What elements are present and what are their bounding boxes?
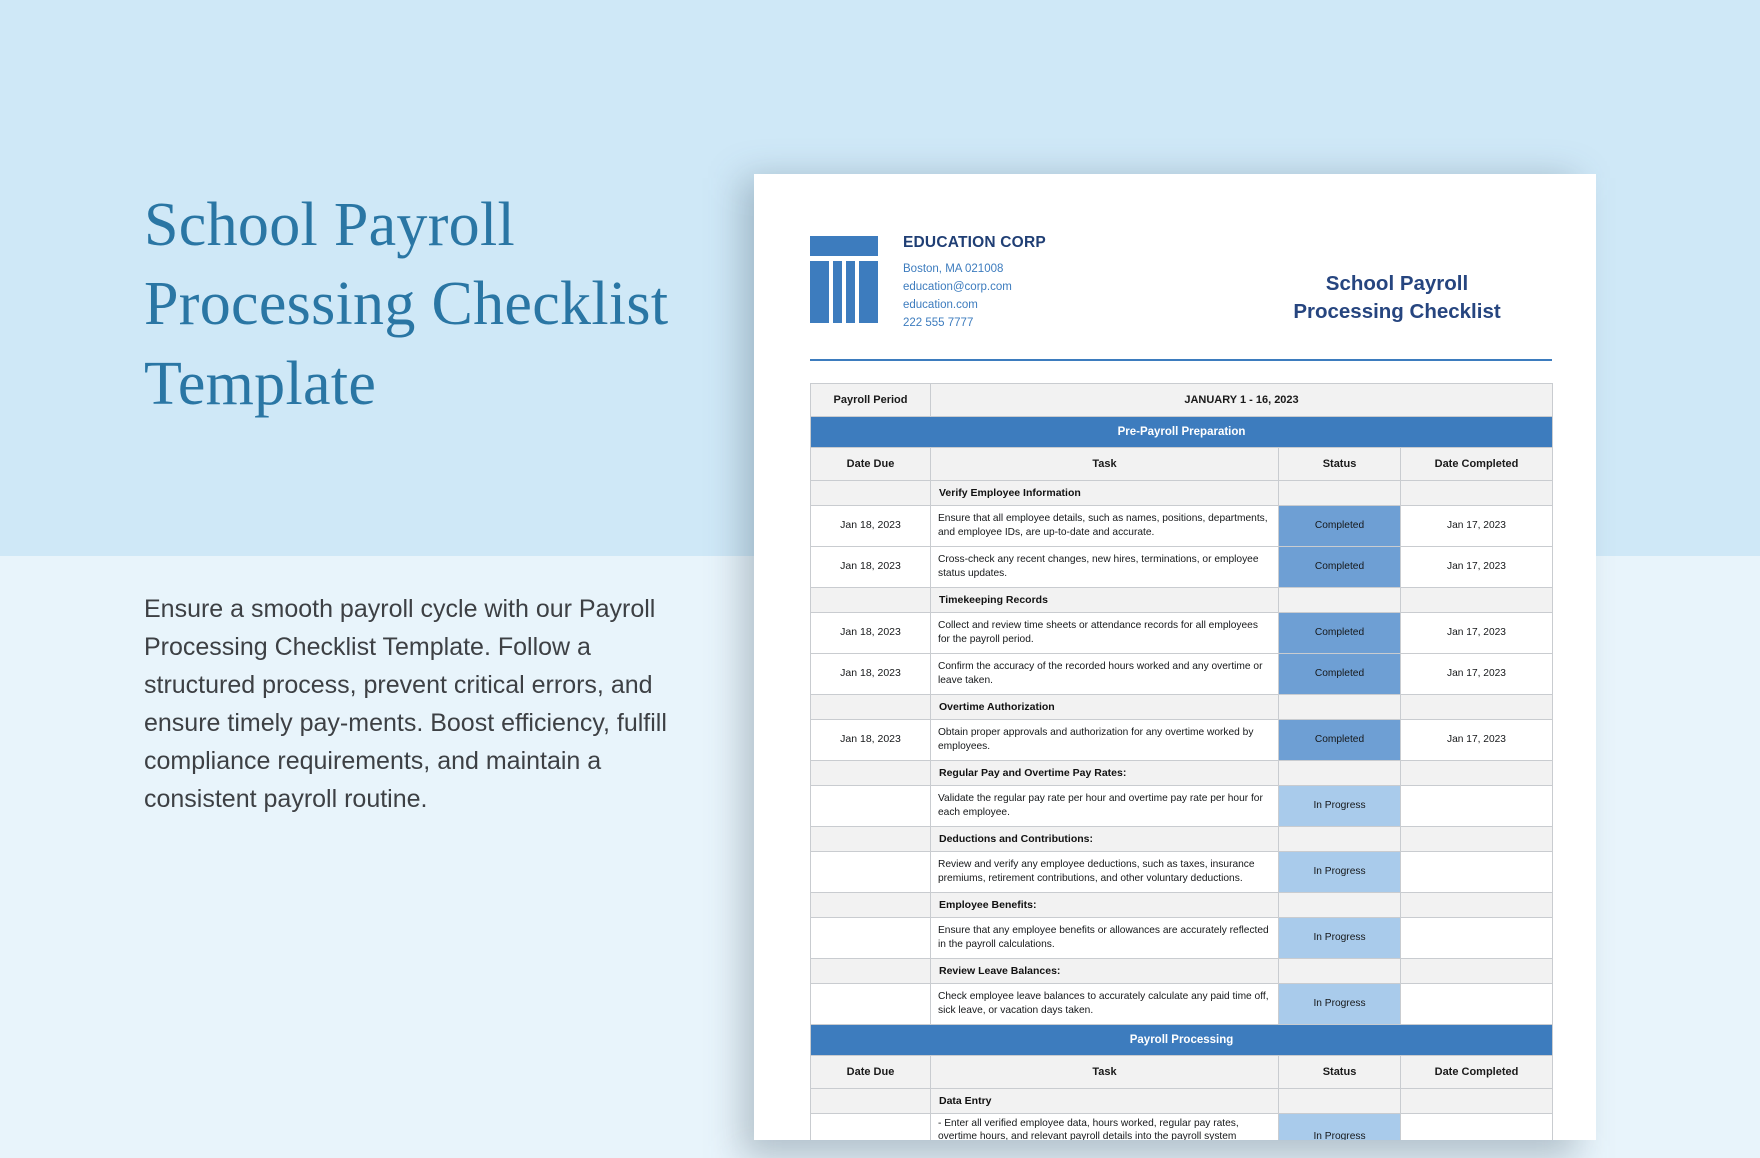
group-date-cell — [811, 694, 931, 719]
company-email[interactable]: education@corp.com — [903, 278, 1046, 296]
table-row: Check employee leave balances to accurat… — [811, 983, 1553, 1024]
status-badge[interactable]: In Progress — [1279, 785, 1401, 826]
group-done-cell — [1401, 587, 1553, 612]
task-group-row: Regular Pay and Overtime Pay Rates: — [811, 760, 1553, 785]
document-page: EDUCATION CORP Boston, MA 021008 educati… — [754, 174, 1596, 1140]
task-date-due — [811, 851, 931, 892]
status-badge[interactable]: Completed — [1279, 653, 1401, 694]
task-group-row: Review Leave Balances: — [811, 958, 1553, 983]
group-date-cell — [811, 892, 931, 917]
column-header-status: Status — [1279, 1055, 1401, 1088]
table-row: Jan 18, 2023Ensure that all employee det… — [811, 505, 1553, 546]
section-title: Pre-Payroll Preparation — [811, 416, 1553, 447]
column-header-row: Date DueTaskStatusDate Completed — [811, 1055, 1553, 1088]
status-badge[interactable]: In Progress — [1279, 1113, 1401, 1140]
task-description: Obtain proper approvals and authorizatio… — [931, 719, 1279, 760]
document-title: School Payroll Processing Checklist — [1242, 232, 1552, 327]
company-name: EDUCATION CORP — [903, 234, 1046, 252]
group-date-cell — [811, 1088, 931, 1113]
company-phone: 222 555 7777 — [903, 314, 1046, 332]
task-date-completed — [1401, 851, 1553, 892]
task-date-due: Jan 18, 2023 — [811, 546, 931, 587]
task-date-completed — [1401, 1113, 1553, 1140]
table-row: Jan 18, 2023Obtain proper approvals and … — [811, 719, 1553, 760]
column-header-date-completed: Date Completed — [1401, 1055, 1553, 1088]
company-info: EDUCATION CORP Boston, MA 021008 educati… — [903, 232, 1046, 333]
task-date-completed: Jan 17, 2023 — [1401, 505, 1553, 546]
status-badge[interactable]: Completed — [1279, 612, 1401, 653]
column-header-date-completed: Date Completed — [1401, 447, 1553, 480]
group-status-cell — [1279, 587, 1401, 612]
company-website[interactable]: education.com — [903, 296, 1046, 314]
group-status-cell — [1279, 1088, 1401, 1113]
task-group-label: Timekeeping Records — [931, 587, 1279, 612]
task-description: Collect and review time sheets or attend… — [931, 612, 1279, 653]
task-group-row: Deductions and Contributions: — [811, 826, 1553, 851]
status-badge[interactable]: Completed — [1279, 546, 1401, 587]
group-date-cell — [811, 480, 931, 505]
task-date-completed — [1401, 917, 1553, 958]
task-group-row: Verify Employee Information — [811, 480, 1553, 505]
document-title-line-2: Processing Checklist — [1242, 298, 1552, 326]
group-done-cell — [1401, 760, 1553, 785]
header-divider — [810, 359, 1552, 361]
table-row: Jan 18, 2023Confirm the accuracy of the … — [811, 653, 1553, 694]
table-row: Validate the regular pay rate per hour a… — [811, 785, 1553, 826]
task-date-completed — [1401, 983, 1553, 1024]
column-header-date-due: Date Due — [811, 447, 931, 480]
table-row: Jan 18, 2023Collect and review time shee… — [811, 612, 1553, 653]
group-done-cell — [1401, 694, 1553, 719]
task-description: Confirm the accuracy of the recorded hou… — [931, 653, 1279, 694]
group-status-cell — [1279, 958, 1401, 983]
task-date-due — [811, 785, 931, 826]
status-badge[interactable]: Completed — [1279, 505, 1401, 546]
payroll-period-label: Payroll Period — [811, 383, 931, 416]
status-badge[interactable]: In Progress — [1279, 983, 1401, 1024]
task-date-due: Jan 18, 2023 — [811, 653, 931, 694]
task-group-label: Overtime Authorization — [931, 694, 1279, 719]
task-date-due: Jan 18, 2023 — [811, 505, 931, 546]
page-title: School Payroll Processing Checklist Temp… — [144, 186, 704, 424]
task-group-row: Employee Benefits: — [811, 892, 1553, 917]
task-group-label: Regular Pay and Overtime Pay Rates: — [931, 760, 1279, 785]
task-group-label: Employee Benefits: — [931, 892, 1279, 917]
letterhead: EDUCATION CORP Boston, MA 021008 educati… — [754, 174, 1596, 333]
status-badge[interactable]: Completed — [1279, 719, 1401, 760]
column-header-status: Status — [1279, 447, 1401, 480]
status-badge[interactable]: In Progress — [1279, 851, 1401, 892]
group-date-cell — [811, 826, 931, 851]
task-description: Review and verify any employee deduction… — [931, 851, 1279, 892]
group-date-cell — [811, 760, 931, 785]
task-group-label: Review Leave Balances: — [931, 958, 1279, 983]
group-status-cell — [1279, 480, 1401, 505]
task-group-label: Verify Employee Information — [931, 480, 1279, 505]
task-description: Cross-check any recent changes, new hire… — [931, 546, 1279, 587]
task-group-row: Timekeeping Records — [811, 587, 1553, 612]
task-date-due — [811, 917, 931, 958]
task-group-row: Overtime Authorization — [811, 694, 1553, 719]
task-group-row: Data Entry — [811, 1088, 1553, 1113]
group-done-cell — [1401, 1088, 1553, 1113]
group-done-cell — [1401, 892, 1553, 917]
column-header-date-due: Date Due — [811, 1055, 931, 1088]
section-header-row: Pre-Payroll Preparation — [811, 416, 1553, 447]
task-description: Ensure that all employee details, such a… — [931, 505, 1279, 546]
column-header-task: Task — [931, 447, 1279, 480]
status-badge[interactable]: In Progress — [1279, 917, 1401, 958]
task-group-label: Data Entry — [931, 1088, 1279, 1113]
task-date-completed — [1401, 785, 1553, 826]
task-description: - Enter all verified employee data, hour… — [931, 1113, 1279, 1140]
document-title-line-1: School Payroll — [1242, 270, 1552, 298]
task-description: Check employee leave balances to accurat… — [931, 983, 1279, 1024]
task-date-due: Jan 18, 2023 — [811, 612, 931, 653]
group-date-cell — [811, 958, 931, 983]
group-done-cell — [1401, 958, 1553, 983]
group-date-cell — [811, 587, 931, 612]
column-header-row: Date DueTaskStatusDate Completed — [811, 447, 1553, 480]
task-date-completed: Jan 17, 2023 — [1401, 546, 1553, 587]
company-address: Boston, MA 021008 — [903, 260, 1046, 278]
group-status-cell — [1279, 694, 1401, 719]
table-row: - Enter all verified employee data, hour… — [811, 1113, 1553, 1140]
promo-description: Ensure a smooth payroll cycle with our P… — [144, 590, 684, 818]
task-description: Ensure that any employee benefits or all… — [931, 917, 1279, 958]
group-status-cell — [1279, 892, 1401, 917]
table-row: Review and verify any employee deduction… — [811, 851, 1553, 892]
table-row: Jan 18, 2023Cross-check any recent chang… — [811, 546, 1553, 587]
company-logo-icon — [810, 236, 878, 323]
payroll-period-row: Payroll PeriodJANUARY 1 - 16, 2023 — [811, 383, 1553, 416]
group-status-cell — [1279, 760, 1401, 785]
section-header-row: Payroll Processing — [811, 1024, 1553, 1055]
table-row: Ensure that any employee benefits or all… — [811, 917, 1553, 958]
task-date-due — [811, 983, 931, 1024]
task-date-completed: Jan 17, 2023 — [1401, 653, 1553, 694]
task-date-due: Jan 18, 2023 — [811, 719, 931, 760]
task-group-label: Deductions and Contributions: — [931, 826, 1279, 851]
task-date-completed: Jan 17, 2023 — [1401, 612, 1553, 653]
group-status-cell — [1279, 826, 1401, 851]
group-done-cell — [1401, 480, 1553, 505]
group-done-cell — [1401, 826, 1553, 851]
task-date-completed: Jan 17, 2023 — [1401, 719, 1553, 760]
column-header-task: Task — [931, 1055, 1279, 1088]
section-title: Payroll Processing — [811, 1024, 1553, 1055]
payroll-period-value: JANUARY 1 - 16, 2023 — [931, 383, 1553, 416]
task-date-due — [811, 1113, 931, 1140]
checklist-table: Payroll PeriodJANUARY 1 - 16, 2023Pre-Pa… — [810, 383, 1553, 1140]
promo-panel: School Payroll Processing Checklist Temp… — [144, 186, 704, 424]
task-description: Validate the regular pay rate per hour a… — [931, 785, 1279, 826]
